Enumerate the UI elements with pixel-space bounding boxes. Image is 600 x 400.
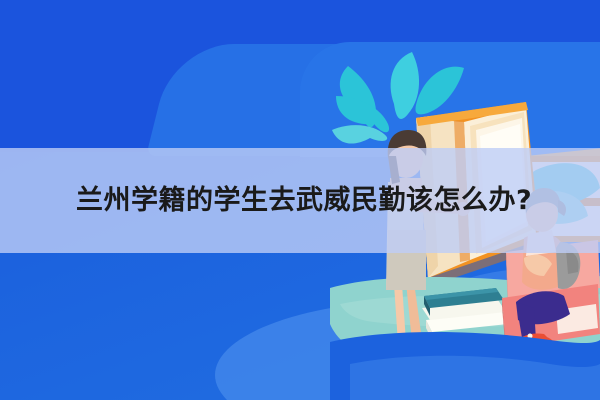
banner-image: 兰州学籍的学生去武威民勤该怎么办? [0,0,600,400]
foreground-blue [330,332,600,400]
page-title: 兰州学籍的学生去武威民勤该怎么办? [76,187,532,214]
title-strip: 兰州学籍的学生去武威民勤该怎么办? [0,148,600,253]
